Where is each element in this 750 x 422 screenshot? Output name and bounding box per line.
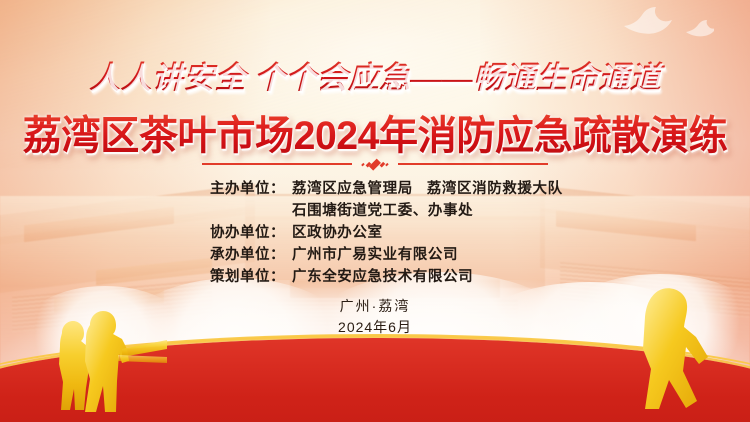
organizer-row-undertaker: 承办单位： 广州市广易实业有限公司	[210, 244, 540, 266]
organizer-label-planner: 策划单位：	[210, 266, 292, 288]
place-date-block: 广州·荔湾 2024年6月	[0, 296, 750, 338]
date-text: 2024年6月	[0, 316, 750, 338]
organizer-row-planner: 策划单位： 广东全安应急技术有限公司	[210, 266, 540, 288]
organizer-block: 主办单位： 荔湾区应急管理局荔湾区消防救援大队 石围塘街道党工委、办事处 协办单…	[0, 178, 750, 288]
organizer-value-host-primary: 荔湾区应急管理局	[292, 181, 413, 197]
divider-line-right	[398, 163, 548, 165]
organizer-value-host: 荔湾区应急管理局荔湾区消防救援大队	[292, 178, 563, 200]
poster-subtitle: 人人讲安全 个个会应急——畅通生命通道	[0, 52, 750, 97]
divider-diamond-ornament	[362, 158, 388, 170]
organizer-value-planner: 广东全安应急技术有限公司	[292, 266, 473, 288]
poster-content: 人人讲安全 个个会应急——畅通生命通道 荔湾区茶叶市场2024年消防应急疏散演练…	[0, 0, 750, 422]
organizer-row-host-line2: 石围塘街道党工委、办事处	[210, 200, 540, 222]
organizer-label-undertaker: 承办单位：	[210, 244, 292, 266]
organizer-value-host-secondary: 荔湾区消防救援大队	[427, 181, 563, 197]
poster-canvas: 人人讲安全 个个会应急——畅通生命通道 荔湾区茶叶市场2024年消防应急疏散演练…	[0, 0, 750, 422]
organizer-row-coorganizer: 协办单位： 区政协办公室	[210, 222, 540, 244]
organizer-label-coorganizer: 协办单位：	[210, 222, 292, 244]
poster-title: 荔湾区茶叶市场2024年消防应急疏散演练	[8, 103, 743, 161]
divider-line-left	[202, 163, 352, 165]
place-text: 广州·荔湾	[0, 296, 750, 316]
organizer-row-host: 主办单位： 荔湾区应急管理局荔湾区消防救援大队	[210, 178, 540, 200]
organizer-value-coorganizer: 区政协办公室	[292, 222, 383, 244]
organizer-value-undertaker: 广州市广易实业有限公司	[292, 244, 458, 266]
organizer-label-host: 主办单位：	[210, 178, 292, 200]
ornament-divider	[0, 158, 750, 170]
